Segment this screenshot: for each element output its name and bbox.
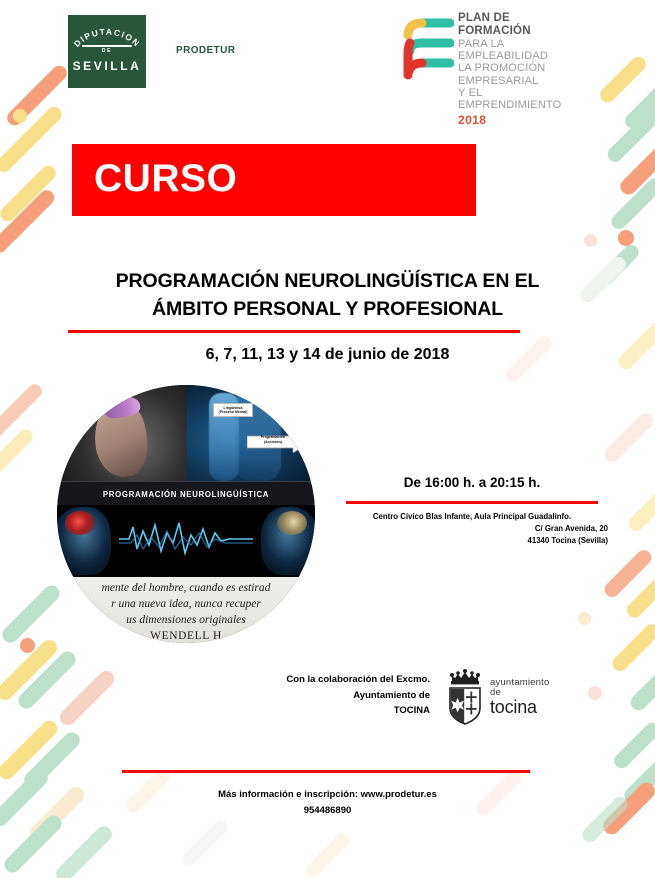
course-hours: De 16:00 h. a 20:15 h. xyxy=(336,475,608,490)
collaboration-line-3: TOCINA xyxy=(240,703,430,719)
quote-line-3: us dimensiones originales xyxy=(57,613,315,629)
footer-divider-rule xyxy=(122,770,530,773)
schedule-divider-rule xyxy=(346,501,598,504)
poster-canvas: DIPUTACION DE SEVILLA PRODETUR PLAN DE F… xyxy=(0,0,655,878)
plan-line-3: LA PROMOCIÓN EMPRESARIAL xyxy=(458,62,561,87)
collage-head-profile-photo xyxy=(57,385,187,481)
collage-caption-band: PROGRAMACIÓN NEUROLINGÜÍSTICA xyxy=(57,481,315,507)
course-title-line-2: ÁMBITO PERSONAL Y PROFESIONAL xyxy=(40,296,615,324)
plan-logo-icon xyxy=(400,13,454,88)
venue-line-2: C/ Gran Avenida, 20 xyxy=(336,523,608,535)
prodetur-wordmark: PRODETUR xyxy=(176,45,235,56)
footer-phone-number: 954486890 xyxy=(40,805,615,816)
tocina-coat-of-arms-icon xyxy=(443,668,487,731)
venue-line-3: 41340 Tocina (Sevilla) xyxy=(336,535,608,547)
plan-line-4: Y EL EMPRENDIMIENTO xyxy=(458,87,561,112)
label-programacion: Programación (Acciones) xyxy=(253,435,293,444)
tocina-word-line-1: ayuntamiento de xyxy=(490,678,549,698)
collage-caption-text: PROGRAMACIÓN NEUROLINGÜÍSTICA xyxy=(103,490,269,499)
label-linguistica: Lingüística (Proceso Mental) xyxy=(213,403,253,417)
collage-xray-diagram: Lingüística (Proceso Mental) Programació… xyxy=(187,385,315,481)
left-brain-scan xyxy=(65,511,95,535)
collage-quote-area: mente del hombre, cuando es estirad r un… xyxy=(57,577,315,643)
waveform-graphic xyxy=(119,519,253,559)
curso-label: CURSO xyxy=(94,157,237,201)
quote-line-2: r una nueva idea, nunca recuper xyxy=(57,597,315,613)
tocina-wordmark: ayuntamiento de tocina xyxy=(490,678,549,717)
course-title-line-1: PROGRAMACIÓN NEUROLINGÜÍSTICA EN EL xyxy=(40,268,615,296)
collaboration-line-1: Con la colaboración del Excmo. xyxy=(240,672,430,688)
title-divider-rule xyxy=(68,330,520,333)
plan-line-2: PARA LA EMPLEABILIDAD xyxy=(458,38,561,63)
tocina-word-line-2: tocina xyxy=(490,698,549,717)
venue-address: Centro Cívico Blas Infante, Aula Princip… xyxy=(336,511,608,547)
diputacion-sevilla-logo: DIPUTACION DE SEVILLA xyxy=(68,15,146,88)
ayuntamiento-tocina-logo: ayuntamiento de tocina xyxy=(443,668,487,731)
diputacion-divider xyxy=(82,45,132,47)
collage-brains-waveform xyxy=(57,505,315,577)
neurolinguistic-collage-image: Lingüística (Proceso Mental) Programació… xyxy=(57,385,315,643)
quote-line-1: mente del hombre, cuando es estirad xyxy=(57,581,315,597)
plan-logo-text: PLAN DE FORMACIÓN PARA LA EMPLEABILIDAD … xyxy=(458,12,561,127)
collaboration-line-2: Ayuntamiento de xyxy=(240,688,430,704)
right-brain-scan xyxy=(277,511,307,535)
plan-line-1: PLAN DE FORMACIÓN xyxy=(458,12,561,38)
curso-banner: CURSO xyxy=(72,144,476,216)
course-dates: 6, 7, 11, 13 y 14 de junio de 2018 xyxy=(40,346,615,364)
collaboration-text: Con la colaboración del Excmo. Ayuntamie… xyxy=(240,672,430,719)
course-title: PROGRAMACIÓN NEUROLINGÜÍSTICA EN EL ÁMBI… xyxy=(40,268,615,323)
quote-author: WENDELL H xyxy=(57,629,315,643)
plan-year: 2018 xyxy=(458,114,561,127)
venue-line-1: Centro Cívico Blas Infante, Aula Princip… xyxy=(336,511,608,523)
diputacion-de-text: DE xyxy=(68,48,146,54)
footer-info-text: Más información e inscripción: www.prode… xyxy=(40,789,615,800)
diputacion-sevilla-text: SEVILLA xyxy=(68,59,146,73)
